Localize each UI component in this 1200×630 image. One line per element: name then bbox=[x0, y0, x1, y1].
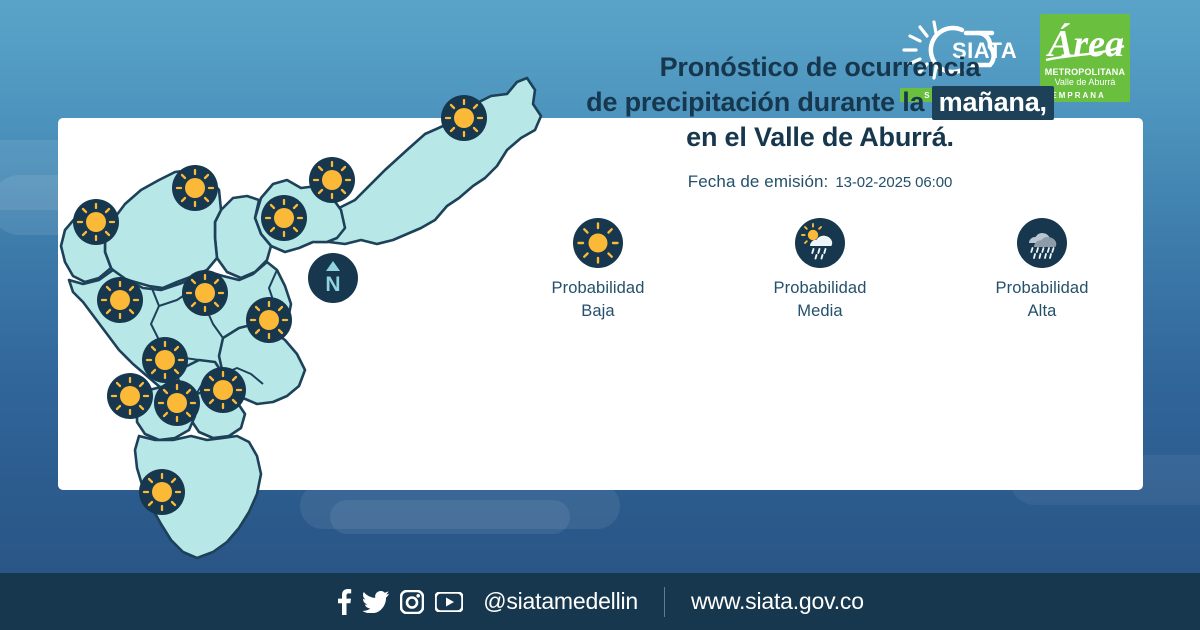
probability-legend: Probabilidad Baja bbox=[500, 218, 1140, 323]
headline: Pronóstico de ocurrencia de precipitació… bbox=[500, 50, 1140, 155]
legend-label-line1: Probabilidad bbox=[552, 277, 645, 300]
footer-divider bbox=[664, 587, 665, 617]
headline-line3: en el Valle de Aburrá. bbox=[500, 120, 1140, 155]
legend-item-media: Probabilidad Media bbox=[750, 218, 890, 323]
legend-label-media: Probabilidad Media bbox=[774, 277, 867, 323]
sun-icon bbox=[573, 218, 623, 268]
headline-highlight: mañana, bbox=[932, 86, 1054, 120]
issue-date-label: Fecha de emisión: bbox=[688, 172, 829, 192]
map-marker-sun bbox=[246, 297, 292, 343]
map-marker-sun bbox=[154, 380, 200, 426]
sun-cloud-rain-icon bbox=[795, 218, 845, 268]
footer: @siatamedellin www.siata.gov.co bbox=[0, 573, 1200, 630]
cloud-heavy-rain-icon bbox=[1017, 218, 1067, 268]
legend-label-baja: Probabilidad Baja bbox=[552, 277, 645, 323]
text-panel: Pronóstico de ocurrencia de precipitació… bbox=[500, 50, 1140, 380]
legend-label-line2: Media bbox=[774, 300, 867, 323]
instagram-icon[interactable] bbox=[400, 590, 424, 614]
map-marker-sun bbox=[73, 199, 119, 245]
social-links bbox=[336, 589, 463, 615]
twitter-icon[interactable] bbox=[363, 591, 389, 613]
infographic-canvas: SIATA Área METROPOLITANA Valle de Aburrá… bbox=[0, 0, 1200, 630]
social-handle[interactable]: @siatamedellin bbox=[483, 588, 638, 615]
website-url[interactable]: www.siata.gov.co bbox=[691, 588, 864, 615]
map-marker-sun bbox=[139, 469, 185, 515]
map-marker-sun bbox=[200, 367, 246, 413]
headline-line2: de precipitación durante la mañana, bbox=[500, 85, 1140, 120]
youtube-icon[interactable] bbox=[435, 592, 463, 612]
issue-date: Fecha de emisión: 13-02-2025 06:00 bbox=[500, 172, 1140, 192]
compass-rose: N bbox=[308, 253, 358, 303]
legend-label-alta: Probabilidad Alta bbox=[996, 277, 1089, 323]
map-marker-sun bbox=[172, 165, 218, 211]
legend-item-baja: Probabilidad Baja bbox=[528, 218, 668, 323]
map-marker-sun bbox=[182, 270, 228, 316]
map-marker-sun bbox=[261, 195, 307, 241]
map-marker-sun bbox=[97, 277, 143, 323]
valle-de-aburra-map: N bbox=[55, 38, 555, 583]
issue-date-value: 13-02-2025 06:00 bbox=[835, 174, 952, 191]
legend-label-line2: Alta bbox=[996, 300, 1089, 323]
map-marker-sun bbox=[441, 95, 487, 141]
map-marker-sun bbox=[309, 157, 355, 203]
headline-line2-text: de precipitación durante la bbox=[586, 87, 924, 117]
legend-label-line1: Probabilidad bbox=[774, 277, 867, 300]
facebook-icon[interactable] bbox=[336, 589, 352, 615]
legend-label-line2: Baja bbox=[552, 300, 645, 323]
map-marker-sun bbox=[107, 373, 153, 419]
compass-north-label: N bbox=[325, 273, 340, 296]
map-marker-sun bbox=[142, 337, 188, 383]
headline-line1: Pronóstico de ocurrencia bbox=[500, 50, 1140, 85]
legend-label-line1: Probabilidad bbox=[996, 277, 1089, 300]
legend-item-alta: Probabilidad Alta bbox=[972, 218, 1112, 323]
